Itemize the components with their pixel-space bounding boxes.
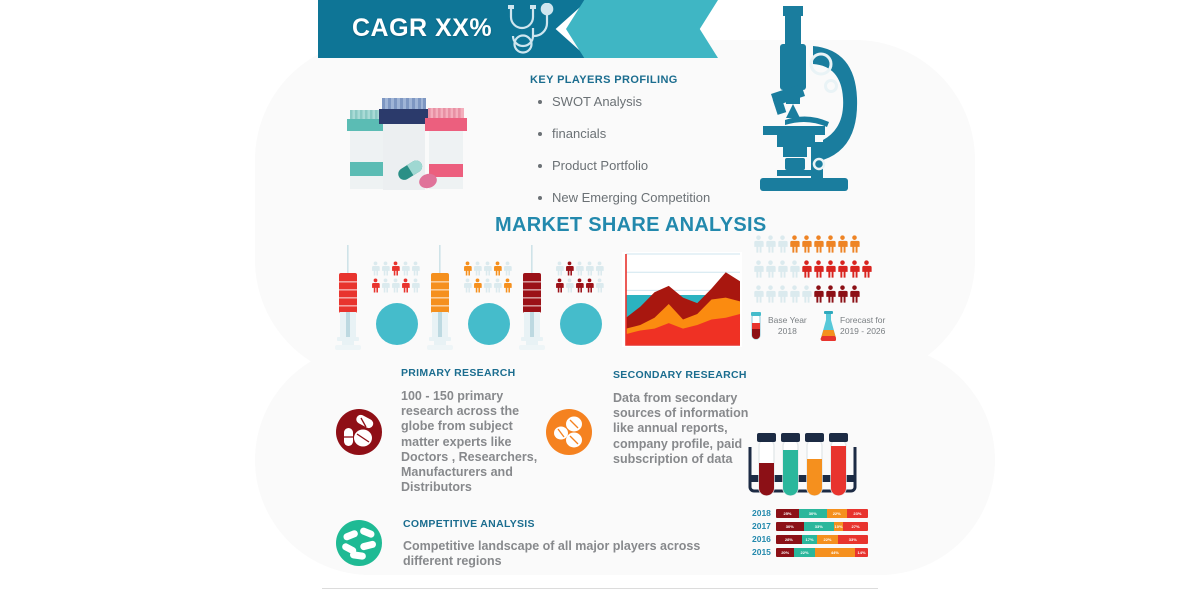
stacked-bar-segment: 30% <box>776 522 804 531</box>
stacked-bar-track: 20%22%44%14% <box>776 548 868 557</box>
key-players-list: SWOT Analysis financials Product Portfol… <box>530 94 770 205</box>
stacked-bar-segment: 27% <box>843 522 868 531</box>
table-row: 201730%33%10%27% <box>752 521 872 531</box>
competitive-analysis-block: COMPETITIVE ANALYSIS Competitive landsca… <box>403 518 723 569</box>
bubble-marker <box>560 303 602 345</box>
person-icon <box>825 234 836 254</box>
person-icon <box>411 261 420 276</box>
stacked-bar-segment: 20% <box>776 548 794 557</box>
table-row: 201825%30%22%23% <box>752 508 872 518</box>
person-icon <box>483 278 492 293</box>
stacked-bar-track: 28%17%22%33% <box>776 535 868 544</box>
primary-research-title: PRIMARY RESEARCH <box>401 367 551 379</box>
person-icon <box>777 284 788 304</box>
person-icon <box>463 278 472 293</box>
person-icon <box>585 261 594 276</box>
person-icon <box>765 259 776 279</box>
syringe-unit-1 <box>333 245 425 350</box>
person-icon <box>401 278 410 293</box>
syringe-icon <box>517 245 547 350</box>
year-label: 2015 <box>752 547 776 557</box>
competitive-analysis-body: Competitive landscape of all major playe… <box>403 539 723 569</box>
person-icon <box>575 261 584 276</box>
person-icon <box>849 284 860 304</box>
person-icon <box>801 259 812 279</box>
year-label: 2016 <box>752 534 776 544</box>
person-icon <box>463 261 472 276</box>
key-players-block: KEY PLAYERS PROFILING SWOT Analysis fina… <box>530 74 770 222</box>
legend-label-line1: Forecast for <box>840 315 885 326</box>
competitive-analysis-title: COMPETITIVE ANALYSIS <box>403 518 723 530</box>
people-grid <box>555 261 604 293</box>
person-icon <box>753 284 764 304</box>
person-icon <box>401 261 410 276</box>
footer-divider <box>322 588 878 589</box>
stacked-bar-segment: 22% <box>794 548 814 557</box>
person-icon <box>371 278 380 293</box>
key-players-title: KEY PLAYERS PROFILING <box>530 74 770 86</box>
person-icon <box>837 234 848 254</box>
person-icon <box>837 259 848 279</box>
secondary-research-body: Data from secondary sources of informati… <box>613 391 761 467</box>
person-icon <box>473 278 482 293</box>
person-icon <box>371 261 380 276</box>
legend-label: Base Year2018 <box>768 315 807 337</box>
bubble-marker <box>468 303 510 345</box>
person-icon <box>503 278 512 293</box>
primary-research-block: PRIMARY RESEARCH 100 - 150 primary resea… <box>401 367 551 495</box>
area-chart <box>622 252 742 347</box>
person-icon <box>849 234 860 254</box>
people-matrix-row <box>753 234 861 256</box>
test-tube-icon <box>748 311 764 341</box>
person-icon <box>789 284 800 304</box>
person-icon <box>555 278 564 293</box>
people-grid <box>463 261 512 293</box>
legend-item-1: Base Year2018 <box>748 311 807 341</box>
test-tube-rack-icon <box>745 425 860 503</box>
microscope-icon <box>755 2 873 197</box>
person-icon <box>777 259 788 279</box>
bubble-marker <box>376 303 418 345</box>
syringe-icon <box>333 245 363 350</box>
market-share-title: MARKET SHARE ANALYSIS <box>495 214 767 237</box>
stacked-bar-segment: 44% <box>815 548 855 557</box>
person-icon <box>789 259 800 279</box>
secondary-research-block: SECONDARY RESEARCH Data from secondary s… <box>613 369 761 467</box>
person-icon <box>813 284 824 304</box>
list-item: SWOT Analysis <box>530 94 770 109</box>
person-icon <box>565 278 574 293</box>
stacked-bar-segment: 17% <box>802 535 818 544</box>
year-label: 2017 <box>752 521 776 531</box>
tablets-circle-icon <box>546 409 592 455</box>
person-icon <box>381 278 390 293</box>
person-icon <box>849 259 860 279</box>
primary-research-body: 100 - 150 primary research across the gl… <box>401 389 551 495</box>
flask-icon <box>820 311 836 341</box>
legend-label-line2: 2018 <box>768 326 807 337</box>
secondary-research-title: SECONDARY RESEARCH <box>613 369 761 381</box>
stacked-bar-segment: 14% <box>855 548 868 557</box>
stacked-bar-track: 30%33%10%27% <box>776 522 868 531</box>
person-icon <box>493 278 502 293</box>
person-icon <box>381 261 390 276</box>
banner-title: CAGR XX% <box>352 8 492 48</box>
person-icon <box>813 234 824 254</box>
person-icon <box>753 234 764 254</box>
stacked-bar-segment: 33% <box>838 535 868 544</box>
person-icon <box>483 261 492 276</box>
person-icon <box>595 278 604 293</box>
person-icon <box>765 284 776 304</box>
banner-chevron-light <box>566 0 718 58</box>
person-icon <box>473 261 482 276</box>
legend-label: Forecast for2019 - 2026 <box>840 315 885 337</box>
person-icon <box>861 259 872 279</box>
person-icon <box>555 261 564 276</box>
person-icon <box>503 261 512 276</box>
stacked-bar-segment: 30% <box>799 509 827 518</box>
person-icon <box>825 259 836 279</box>
year-label: 2018 <box>752 508 776 518</box>
list-item: financials <box>530 126 770 141</box>
table-row: 201520%22%44%14% <box>752 547 872 557</box>
chart-legend: Base Year2018Forecast for2019 - 2026 <box>748 311 888 345</box>
person-icon <box>813 259 824 279</box>
stacked-bar-segment: 22% <box>827 509 847 518</box>
person-icon <box>565 261 574 276</box>
person-icon <box>777 234 788 254</box>
medicine-bottles-icon <box>344 86 476 196</box>
cagr-banner: CAGR XX% <box>318 0 718 58</box>
stacked-bar-segment: 28% <box>776 535 802 544</box>
people-matrix-chart <box>753 234 863 309</box>
person-icon <box>825 284 836 304</box>
stacked-bar-segment: 23% <box>847 509 868 518</box>
person-icon <box>595 261 604 276</box>
infographic-canvas: CAGR XX% <box>0 0 1200 600</box>
person-icon <box>575 278 584 293</box>
person-icon <box>801 234 812 254</box>
list-item: New Emerging Competition <box>530 190 770 205</box>
legend-item-2: Forecast for2019 - 2026 <box>820 311 885 341</box>
person-icon <box>837 284 848 304</box>
person-icon <box>801 284 812 304</box>
person-icon <box>585 278 594 293</box>
stethoscope-icon <box>503 3 565 55</box>
syringe-unit-2 <box>425 245 517 350</box>
list-item: Product Portfolio <box>530 158 770 173</box>
stacked-bar-segment: 10% <box>834 522 843 531</box>
person-icon <box>411 278 420 293</box>
person-icon <box>789 234 800 254</box>
person-icon <box>391 278 400 293</box>
legend-label-line1: Base Year <box>768 315 807 326</box>
stacked-bar-segment: 33% <box>804 522 834 531</box>
table-row: 201628%17%22%33% <box>752 534 872 544</box>
people-matrix-row <box>753 259 873 281</box>
stacked-bar-track: 25%30%22%23% <box>776 509 868 518</box>
people-matrix-row <box>753 284 861 306</box>
syringe-unit-3 <box>517 245 609 350</box>
person-icon <box>765 234 776 254</box>
stacked-bar-segment: 25% <box>776 509 799 518</box>
pills-circle-icon <box>336 409 382 455</box>
year-stacked-bars: 201825%30%22%23%201730%33%10%27%201628%1… <box>752 508 872 560</box>
person-icon <box>753 259 764 279</box>
capsules-circle-icon <box>336 520 382 566</box>
person-icon <box>493 261 502 276</box>
legend-label-line2: 2019 - 2026 <box>840 326 885 337</box>
stacked-bar-segment: 22% <box>817 535 837 544</box>
syringe-icon <box>425 245 455 350</box>
people-grid <box>371 261 420 293</box>
syringe-group <box>333 245 608 350</box>
person-icon <box>391 261 400 276</box>
